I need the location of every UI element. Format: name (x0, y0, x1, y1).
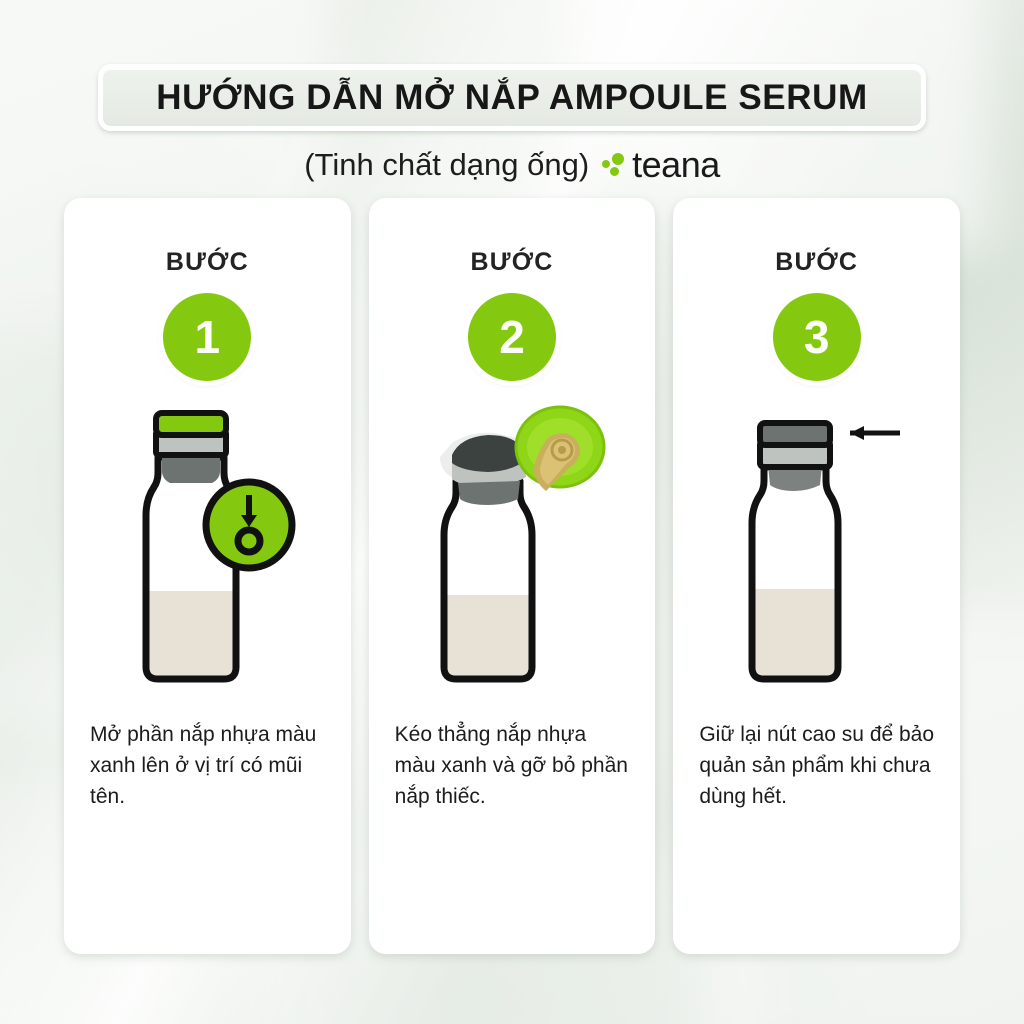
brand-logo: teana (602, 144, 720, 186)
step-number: 3 (804, 314, 830, 360)
steps-container: BƯỚC 1 (64, 198, 960, 954)
step-2-illustration (412, 395, 612, 695)
step-3-illustration (722, 395, 912, 695)
step-caption: Mở phần nắp nhựa màu xanh lên ở vị trí c… (90, 719, 326, 812)
step-number-badge: 2 (468, 293, 556, 381)
step-number-badge: 3 (773, 293, 861, 381)
brand-dots-icon (602, 151, 626, 179)
page-title: HƯỚNG DẪN MỞ NẮP AMPOULE SERUM (156, 78, 868, 118)
step-caption: Kéo thẳng nắp nhựa màu xanh và gỡ bỏ phầ… (395, 719, 631, 812)
step-caption: Giữ lại nút cao su để bảo quản sản phẩm … (699, 719, 935, 812)
page-subtitle: (Tinh chất dạng ống) (304, 147, 589, 183)
step-label: BƯỚC (166, 248, 249, 277)
step-number-badge: 1 (163, 293, 251, 381)
step-number: 2 (499, 314, 525, 360)
vial-rubber-stopper-arrow-svg (722, 395, 912, 695)
step-number: 1 (195, 314, 221, 360)
brand-name: teana (632, 144, 720, 186)
step-card-2: BƯỚC 2 (369, 198, 656, 954)
step-card-1: BƯỚC 1 (64, 198, 351, 954)
title-banner: HƯỚNG DẪN MỞ NẮP AMPOULE SERUM (98, 64, 926, 131)
subtitle-row: (Tinh chất dạng ống) teana (0, 144, 1024, 186)
infographic-page: HƯỚNG DẪN MỞ NẮP AMPOULE SERUM (Tinh chấ… (0, 0, 1024, 1024)
step-card-3: BƯỚC 3 (673, 198, 960, 954)
vial-cap-pulled-off-svg (412, 395, 612, 695)
step-1-illustration (112, 395, 302, 695)
step-label: BƯỚC (471, 248, 554, 277)
step-label: BƯỚC (775, 248, 858, 277)
vial-green-cap-arrow-svg (112, 395, 302, 695)
